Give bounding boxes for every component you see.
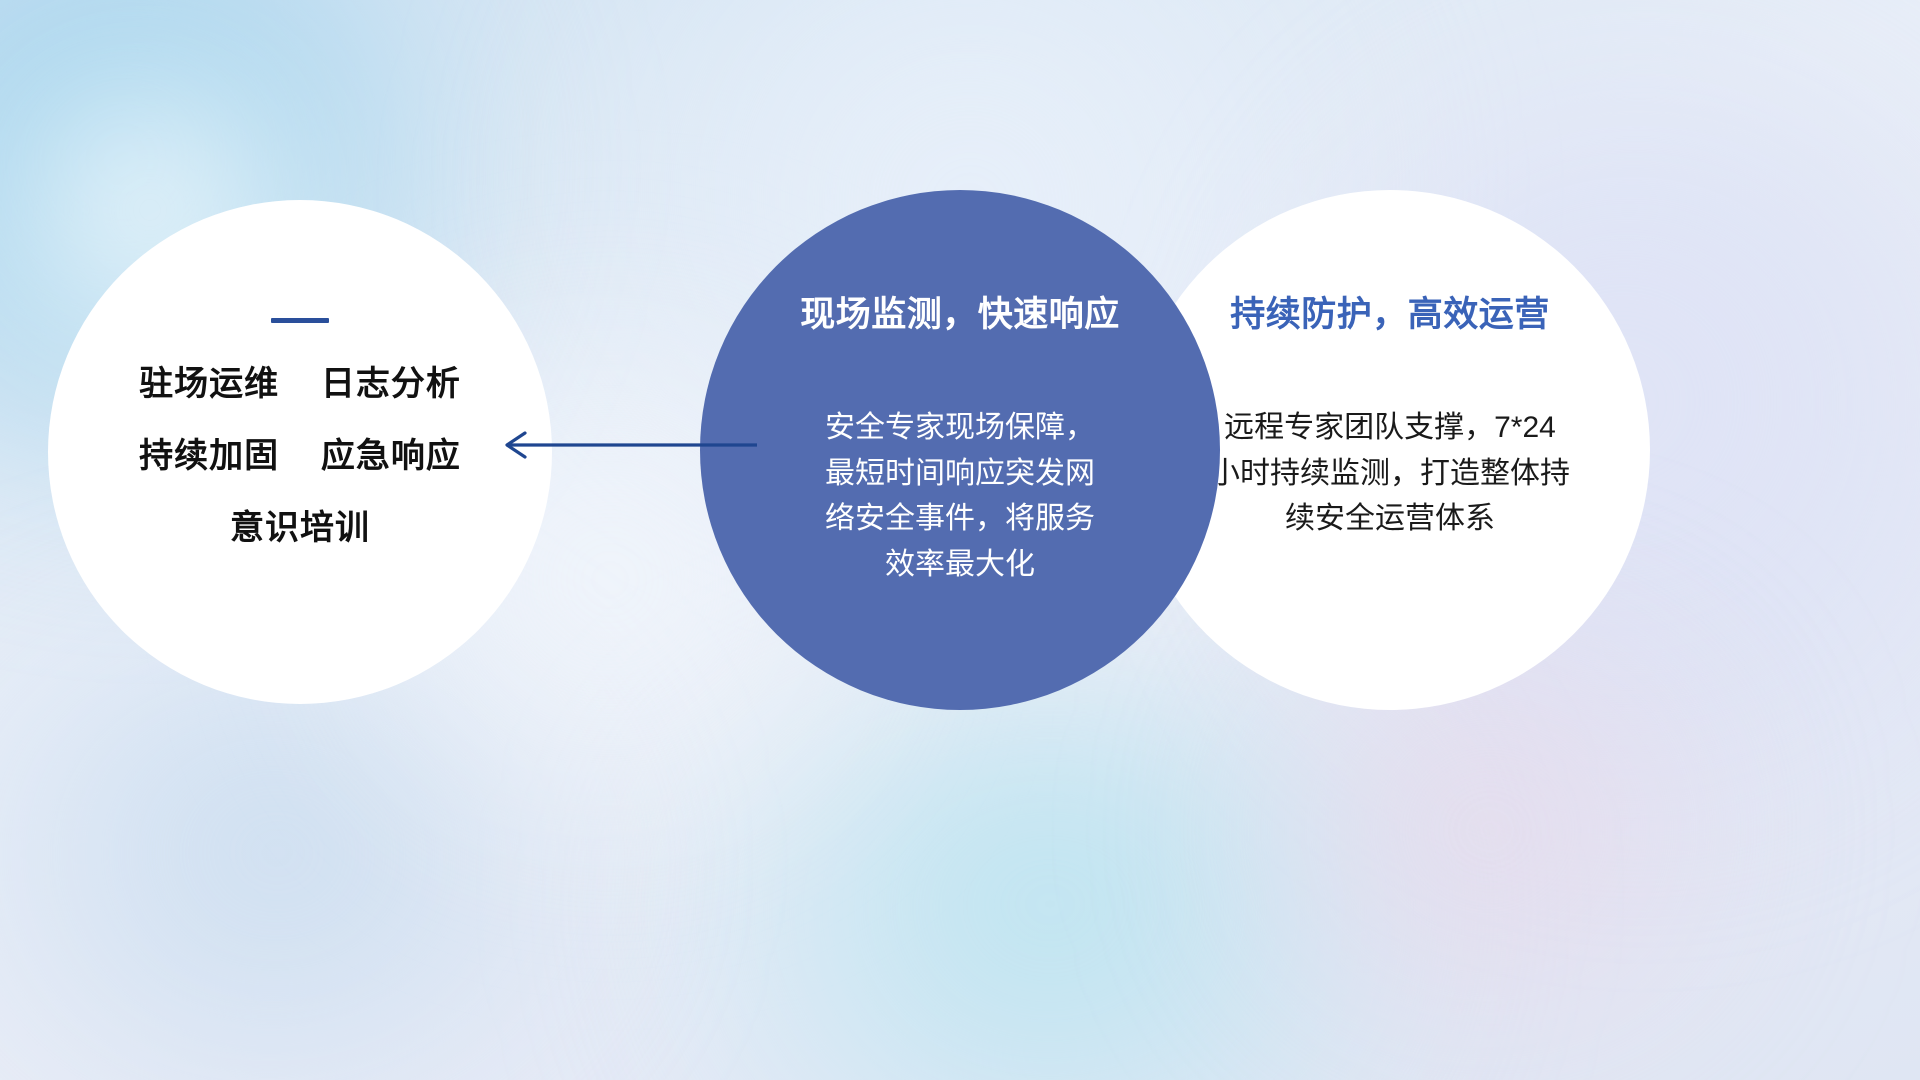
capabilities-content: 驻场运维 日志分析 持续加固 应急响应 意识培训: [48, 318, 552, 545]
capability-line-2: 持续加固 应急响应: [139, 439, 461, 473]
slide-canvas: 驻场运维 日志分析 持续加固 应急响应 意识培训 持续防护，高效运营 远程专家团…: [0, 0, 1920, 1080]
continuous-protection-body: 远程专家团队支撑，7*24小时持续监测，打造整体持续安全运营体系: [1210, 405, 1570, 542]
leftward-flow-arrow-icon: [495, 420, 765, 470]
capability-line-3: 意识培训: [230, 511, 370, 545]
divider-rule-icon: [271, 318, 329, 323]
onsite-monitoring-body: 安全专家现场保障，最短时间响应突发网络安全事件，将服务效率最大化: [821, 405, 1099, 587]
onsite-monitoring-circle[interactable]: 现场监测，快速响应 安全专家现场保障，最短时间响应突发网络安全事件，将服务效率最…: [700, 190, 1220, 710]
onsite-monitoring-title: 现场监测，快速响应: [800, 286, 1120, 337]
capability-line-1: 驻场运维 日志分析: [139, 367, 461, 401]
capabilities-circle[interactable]: 驻场运维 日志分析 持续加固 应急响应 意识培训: [48, 200, 552, 704]
onsite-monitoring-content: 现场监测，快速响应 安全专家现场保障，最短时间响应突发网络安全事件，将服务效率最…: [700, 286, 1220, 587]
continuous-protection-title: 持续防护，高效运营: [1230, 286, 1550, 337]
